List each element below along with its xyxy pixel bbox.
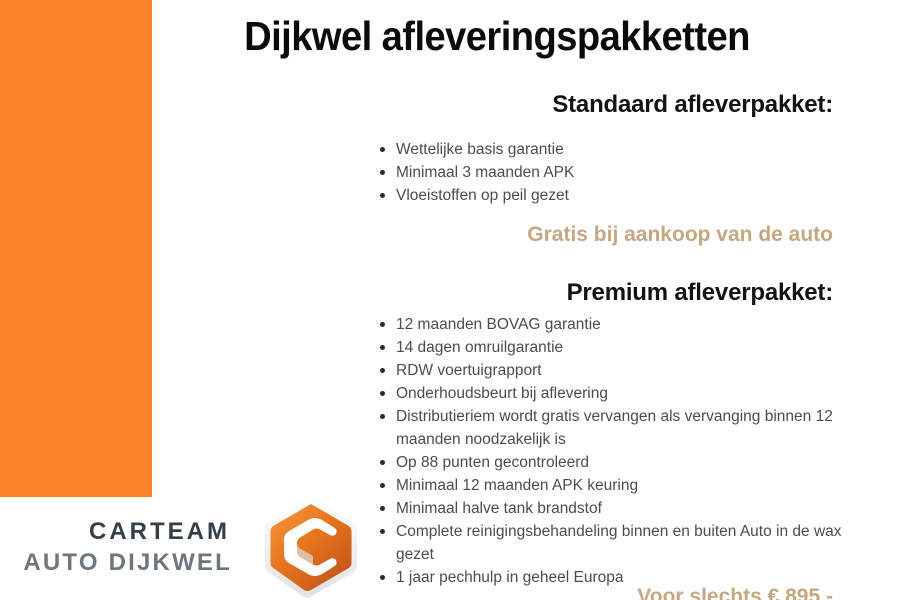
delivery-packages-poster: Dijkwel afleveringspakketten Standaard a…: [0, 0, 902, 600]
list-item: Minimaal halve tank brandstof: [378, 497, 848, 520]
page-title: Dijkwel afleveringspakketten: [176, 8, 818, 64]
section-heading-premium: Premium afleverpakket:: [567, 278, 833, 308]
section-heading-standaard: Standaard afleverpakket:: [552, 90, 833, 120]
list-item: Vloeistoffen op peil gezet: [378, 184, 848, 207]
list-item: Distributieriem wordt gratis vervangen a…: [378, 405, 848, 451]
orange-accent-block: [0, 0, 152, 497]
list-item: 14 dagen omruilgarantie: [378, 336, 848, 359]
list-item: 12 maanden BOVAG garantie: [378, 313, 848, 336]
list-item: Op 88 punten gecontroleerd: [378, 451, 848, 474]
feature-list-standaard: Wettelijke basis garantie Minimaal 3 maa…: [378, 138, 848, 207]
list-item: RDW voertuigrapport: [378, 359, 848, 382]
list-item: Minimaal 12 maanden APK keuring: [378, 474, 848, 497]
brand-name-auto-dijkwel: AUTO DIJKWEL: [0, 547, 232, 578]
list-item: Minimaal 3 maanden APK: [378, 161, 848, 184]
list-item: Complete reinigingsbehandeling binnen en…: [378, 520, 848, 566]
brand-name-carteam: CARTEAM: [0, 516, 230, 547]
brand-wordmark: CARTEAM AUTO DIJKWEL: [0, 516, 232, 578]
feature-list-premium: 12 maanden BOVAG garantie 14 dagen omrui…: [378, 313, 848, 589]
accent-text-standaard-price: Gratis bij aankoop van de auto: [527, 221, 833, 249]
list-item: Onderhoudsbeurt bij aflevering: [378, 382, 848, 405]
list-item: Wettelijke basis garantie: [378, 138, 848, 161]
accent-text-premium-price: Voor slechts € 895,-: [637, 583, 833, 600]
carteam-hexagon-c-logo-icon: [258, 494, 364, 600]
